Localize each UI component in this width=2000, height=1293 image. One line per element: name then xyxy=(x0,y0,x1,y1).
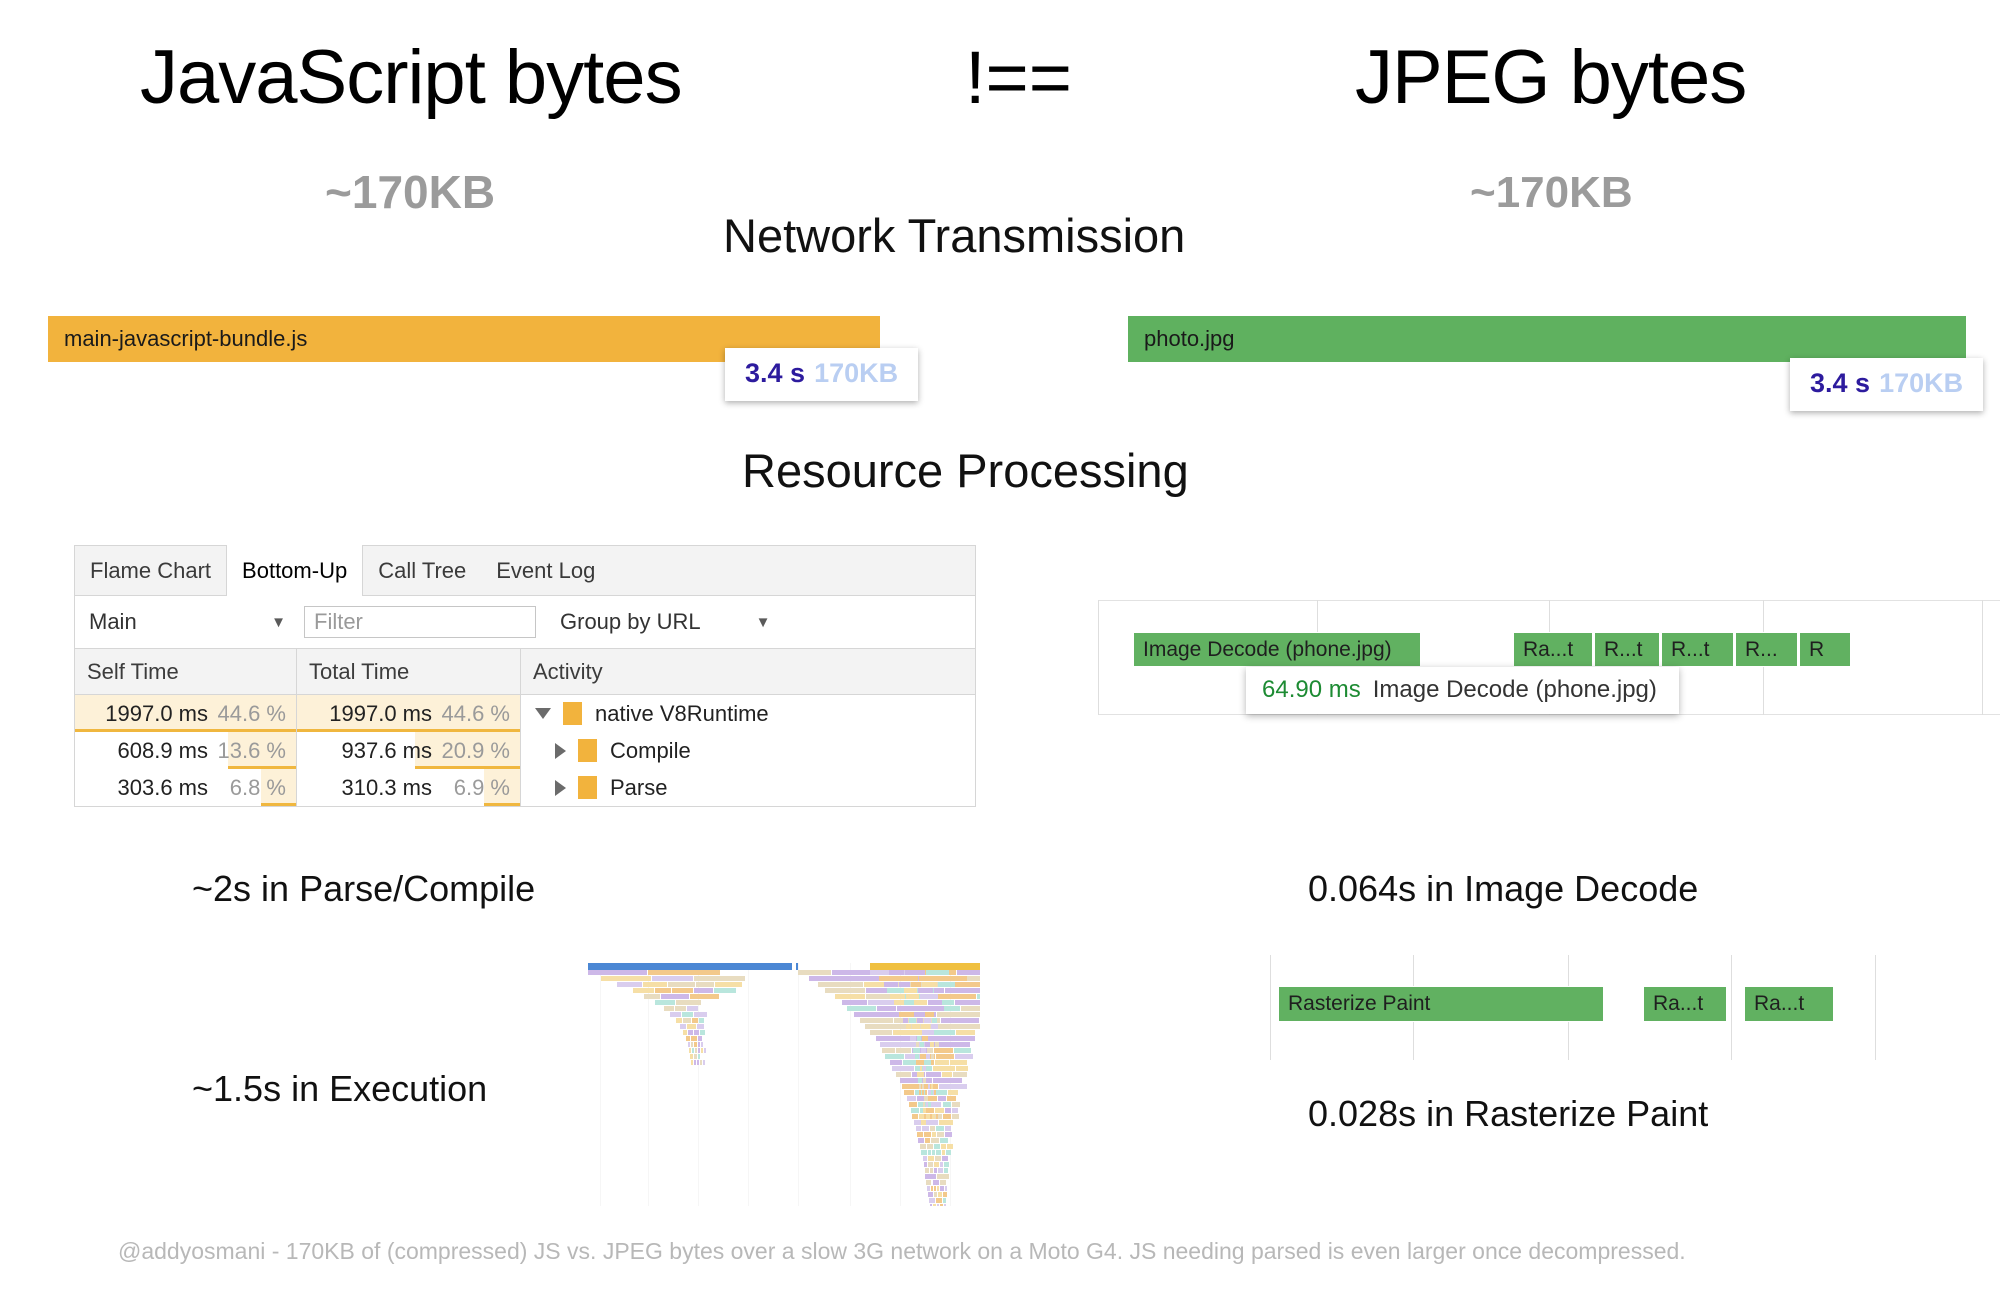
flame-chart-block xyxy=(937,1012,980,1017)
flame-chart-block xyxy=(956,1066,968,1071)
flame-chart-block xyxy=(936,1198,942,1203)
network-bar-jpeg: photo.jpg xyxy=(1128,316,1966,362)
devtools-tabstrip: Flame Chart Bottom-Up Call Tree Event Lo… xyxy=(75,546,975,596)
timeline-bar-rasterize-paint-main[interactable]: Rasterize Paint xyxy=(1278,986,1604,1022)
cell-activity: native V8Runtime xyxy=(521,695,975,732)
table-row[interactable]: 303.6 ms 6.8 % 310.3 ms 6.9 % Parse xyxy=(75,769,975,806)
flame-chart-block xyxy=(944,1204,946,1206)
flame-chart-block xyxy=(927,1078,929,1083)
chevron-down-icon: ▼ xyxy=(271,614,286,631)
flame-chart-block xyxy=(847,1006,876,1011)
flame-chart-block xyxy=(952,1114,959,1119)
flame-chart-block xyxy=(931,1138,939,1143)
flame-chart-block xyxy=(954,1048,971,1053)
footer-caption: @addyosmani - 170KB of (compressed) JS v… xyxy=(118,1238,1686,1265)
flame-chart-block xyxy=(909,1102,918,1107)
flame-chart-block xyxy=(916,1042,920,1047)
self-time-value: 608.9 ms xyxy=(118,738,209,764)
flame-chart-block xyxy=(664,1006,675,1011)
flame-chart-block xyxy=(926,1180,931,1185)
flame-chart-block xyxy=(700,1060,702,1065)
flame-chart-block xyxy=(931,1186,933,1191)
flame-chart-block xyxy=(935,1108,944,1113)
flame-chart-block xyxy=(937,1186,939,1191)
flame-chart-block xyxy=(697,1060,699,1065)
flame-chart-block xyxy=(648,970,720,975)
flame-chart-block xyxy=(912,1114,918,1119)
filter-placeholder: Filter xyxy=(314,609,363,635)
flame-chart-block xyxy=(923,1066,926,1071)
flame-chart-block xyxy=(936,1126,944,1131)
network-tooltip-jpeg-size: 170KB xyxy=(1879,368,1963,398)
flame-chart-block xyxy=(870,1030,892,1035)
timeline-bar-rasterize-paint-3[interactable]: Ra...t xyxy=(1744,986,1834,1022)
scope-select-main[interactable]: Main ▼ xyxy=(89,609,304,635)
flame-chart-block xyxy=(921,1048,926,1053)
flame-chart-block xyxy=(934,1186,936,1191)
flame-chart-block xyxy=(922,1036,928,1041)
flame-chart-block xyxy=(936,1054,954,1059)
tab-flame-chart[interactable]: Flame Chart xyxy=(75,546,226,595)
devtools-toolbar: Main ▼ Filter Group by URL ▼ xyxy=(75,596,975,649)
flame-chart-block xyxy=(940,1204,943,1206)
flame-chart-block xyxy=(961,1006,980,1011)
flame-chart-block xyxy=(697,1024,704,1029)
flame-chart-block xyxy=(952,1102,960,1107)
flame-chart-block xyxy=(904,1090,914,1095)
flame-chart-block xyxy=(947,1096,956,1101)
flame-chart-block xyxy=(692,1018,697,1023)
flame-chart-block xyxy=(944,1168,948,1173)
flame-chart-block xyxy=(943,1192,947,1197)
flame-chart-block xyxy=(916,1126,921,1131)
headline-not-equal-operator: !== xyxy=(965,28,1072,128)
flame-chart-block xyxy=(927,1096,937,1101)
flame-chart-block xyxy=(940,1138,948,1143)
flame-chart-block xyxy=(916,1060,923,1065)
flame-chart-block xyxy=(714,988,736,993)
flame-chart-block xyxy=(920,1054,925,1059)
flame-chart-block xyxy=(935,1060,948,1065)
flame-chart-block xyxy=(680,1024,687,1029)
flame-chart-block xyxy=(915,1054,920,1059)
flame-chart-block xyxy=(940,1186,943,1191)
flame-chart-block xyxy=(932,1132,937,1137)
flame-chart-block xyxy=(955,1054,974,1059)
network-tooltip-jpeg-time: 3.4 s xyxy=(1810,368,1870,398)
flame-chart-block xyxy=(676,1000,701,1005)
flame-chart-block xyxy=(915,1000,927,1005)
flame-chart-block xyxy=(934,1192,937,1197)
flame-chart-block xyxy=(933,1114,935,1119)
jpeg-size-label: ~170KB xyxy=(1470,168,1633,218)
flame-chart-block xyxy=(633,988,653,993)
flame-chart-block xyxy=(940,1180,945,1185)
table-header-row: Self Time Total Time Activity xyxy=(75,649,975,695)
flame-chart-block xyxy=(930,1042,934,1047)
cell-activity: Compile xyxy=(521,732,975,769)
flame-chart-block xyxy=(655,988,671,993)
flame-chart-block xyxy=(930,1102,941,1107)
annotation-parse-compile: ~2s in Parse/Compile xyxy=(192,868,535,910)
flame-chart-block xyxy=(703,1060,705,1065)
flame-chart-block xyxy=(943,1102,952,1107)
tooltip-activity-name: Image Decode (phone.jpg) xyxy=(1373,676,1657,703)
flame-chart-block xyxy=(694,1042,697,1047)
cell-total-time: 937.6 ms 20.9 % xyxy=(297,732,521,769)
annotation-image-decode: 0.064s in Image Decode xyxy=(1308,868,1698,910)
flame-chart-block xyxy=(798,970,831,975)
tooltip-duration: 64.90 ms xyxy=(1262,676,1361,703)
flame-chart-block xyxy=(644,994,660,999)
flame-chart-block xyxy=(957,970,980,975)
headline-row: JavaScript bytes !== JPEG bytes xyxy=(0,28,2000,138)
flame-chart-block xyxy=(668,982,695,987)
timeline-tooltip-image-decode: 64.90 msImage Decode (phone.jpg) xyxy=(1246,667,1679,714)
flame-chart-block xyxy=(882,1048,895,1053)
flame-chart-block xyxy=(655,1000,675,1005)
flame-chart-block xyxy=(927,1186,930,1191)
flame-chart-block xyxy=(694,1030,699,1035)
flame-chart-block xyxy=(698,1036,702,1041)
activity-color-swatch xyxy=(563,702,582,725)
flame-chart-block xyxy=(938,1168,943,1173)
flame-chart-block xyxy=(925,1042,929,1047)
flame-chart-block xyxy=(919,1084,921,1089)
flame-chart-block xyxy=(889,970,904,975)
flame-chart-block xyxy=(922,1084,924,1089)
flame-chart-block xyxy=(698,1048,700,1053)
flame-chart-block xyxy=(601,976,651,981)
flame-chart-block xyxy=(698,1054,700,1059)
flame-chart-block xyxy=(904,1000,914,1005)
timeline-bar-rasterize-2[interactable]: R...t xyxy=(1594,632,1660,667)
flame-chart-block xyxy=(691,1042,693,1047)
flame-chart-block xyxy=(617,982,643,987)
flame-chart-block xyxy=(928,1156,934,1161)
flame-chart-block xyxy=(689,1048,691,1053)
flame-chart-block xyxy=(920,1108,922,1113)
flame-chart-block xyxy=(696,982,714,987)
flame-chart-block xyxy=(906,994,920,999)
flame-chart-block xyxy=(928,1162,933,1167)
flame-chart-block xyxy=(940,1162,943,1167)
column-header-total-time[interactable]: Total Time xyxy=(297,649,521,694)
flame-chart-block xyxy=(691,1060,693,1065)
flame-chart-block xyxy=(694,988,713,993)
flame-chart-block xyxy=(682,1012,693,1017)
flame-chart-block xyxy=(832,970,874,975)
triangle-right-icon[interactable] xyxy=(555,743,566,759)
flame-chart-block xyxy=(931,1054,934,1059)
flame-chart-block xyxy=(934,1090,936,1095)
activity-label: native V8Runtime xyxy=(595,701,769,727)
flame-chart-block xyxy=(927,1048,933,1053)
flame-chart-block xyxy=(896,1072,911,1077)
flame-chart-block xyxy=(931,1024,938,1029)
flame-chart-block xyxy=(686,1036,690,1041)
flame-chart-block xyxy=(672,988,693,993)
timeline-bar-rasterize-5[interactable]: R xyxy=(1799,632,1851,667)
flame-chart-block xyxy=(937,1132,943,1137)
total-time-percent: 20.9 % xyxy=(432,738,514,764)
flame-chart-block xyxy=(935,1042,939,1047)
annotation-rasterize-paint: 0.028s in Rasterize Paint xyxy=(1308,1093,1708,1135)
flame-chart-block xyxy=(825,988,864,993)
js-size-label: ~170KB xyxy=(325,165,495,219)
activity-color-swatch xyxy=(578,776,597,799)
flame-chart-block xyxy=(692,1048,694,1053)
flame-chart-block xyxy=(912,1024,920,1029)
flame-chart-block xyxy=(934,1162,939,1167)
section-title-resource-processing: Resource Processing xyxy=(742,443,1189,498)
flame-chart-block xyxy=(930,1204,933,1206)
chevron-down-icon: ▼ xyxy=(756,614,771,631)
flame-chart-block xyxy=(929,1198,935,1203)
flame-chart-block xyxy=(946,1150,950,1155)
flame-chart-block xyxy=(933,1204,936,1206)
flame-chart-block xyxy=(704,1048,706,1053)
flame-chart-block xyxy=(944,1162,949,1167)
flame-chart-block xyxy=(894,1000,903,1005)
timeline-image-decode: Image Decode (phone.jpg) Ra...t R...t R.… xyxy=(1098,600,2000,715)
column-header-self-time[interactable]: Self Time xyxy=(75,649,297,694)
flame-chart-block xyxy=(928,1150,931,1155)
flame-chart-block xyxy=(925,1084,927,1089)
flame-chart-block xyxy=(688,1042,690,1047)
flame-chart-block xyxy=(941,1144,945,1149)
devtools-bottom-up-panel: Flame Chart Bottom-Up Call Tree Event Lo… xyxy=(74,545,976,807)
flame-chart-block xyxy=(924,1060,932,1065)
flame-chart-block xyxy=(923,1156,928,1161)
flame-chart-block xyxy=(690,994,718,999)
flame-chart-block xyxy=(953,1072,966,1077)
flame-chart-block xyxy=(652,976,693,981)
flame-chart-block xyxy=(884,982,898,987)
flame-chart-block xyxy=(945,988,980,993)
flame-chart-block xyxy=(890,1060,902,1065)
flame-chart-block xyxy=(934,1168,937,1173)
flame-chart-block xyxy=(937,1174,949,1179)
flame-chart-block xyxy=(910,1036,916,1041)
flame-chart-block xyxy=(683,1030,687,1035)
activity-color-swatch xyxy=(578,739,597,762)
flame-chart-block xyxy=(924,1018,931,1023)
flame-chart-block xyxy=(937,1204,939,1206)
flame-chart-block xyxy=(907,1096,916,1101)
flame-chart-block xyxy=(921,1120,926,1125)
flame-chart-block xyxy=(943,1114,950,1119)
flame-chart-block xyxy=(932,1018,938,1023)
flame-chart-block xyxy=(939,1120,953,1125)
flame-chart-block xyxy=(921,1114,923,1119)
section-title-network-transmission: Network Transmission xyxy=(723,208,1185,263)
flame-chart-block xyxy=(911,982,921,987)
flame-chart-block xyxy=(699,1018,704,1023)
flame-chart-block xyxy=(694,976,744,981)
self-time-value: 1997.0 ms xyxy=(105,701,208,727)
flame-chart-block xyxy=(715,982,742,987)
tab-call-tree[interactable]: Call Tree xyxy=(363,546,481,595)
flame-chart-block xyxy=(919,1090,921,1095)
flame-chart-block xyxy=(920,1144,927,1149)
timeline-bar-rasterize-paint-2[interactable]: Ra...t xyxy=(1643,986,1727,1022)
flame-chart-block xyxy=(694,1012,706,1017)
flame-chart-block xyxy=(842,1000,867,1005)
flame-chart-block xyxy=(920,1042,924,1047)
flame-chart-block xyxy=(945,1132,952,1137)
network-tooltip-javascript: 3.4 s170KB xyxy=(725,348,918,401)
flame-chart-block xyxy=(917,1018,922,1023)
flame-chart-block xyxy=(918,1078,922,1083)
flame-chart-block xyxy=(924,1096,928,1101)
flame-chart-block xyxy=(890,994,904,999)
flame-chart-block xyxy=(938,1192,942,1197)
total-time-percent: 6.9 % xyxy=(432,775,514,801)
flame-chart-block xyxy=(700,1030,705,1035)
flame-chart-block xyxy=(905,970,925,975)
timeline-bar-rasterize-3[interactable]: R...t xyxy=(1661,632,1734,667)
flame-chart-block xyxy=(835,994,865,999)
timeline-bar-rasterize-1[interactable]: Ra...t xyxy=(1513,632,1593,667)
flame-chart-block xyxy=(701,1042,703,1047)
flame-chart-block xyxy=(939,1084,966,1089)
flame-chart-block xyxy=(928,1000,943,1005)
flame-chart-block xyxy=(926,1102,928,1107)
flame-chart-thumbnail[interactable]: 1 xyxy=(588,963,980,1206)
flame-chart-block xyxy=(933,1078,963,1083)
timeline-bar-rasterize-4[interactable]: R... xyxy=(1735,632,1798,667)
scope-select-label: Main xyxy=(89,609,137,635)
flame-chart-block xyxy=(920,1066,922,1071)
flame-chart-block xyxy=(955,1000,980,1005)
flame-chart-block xyxy=(887,988,903,993)
flame-chart-block xyxy=(916,1066,919,1071)
flame-chart-block xyxy=(942,1156,948,1161)
flame-chart-block xyxy=(915,1012,924,1017)
flame-chart-block xyxy=(917,1036,921,1041)
filter-input[interactable]: Filter xyxy=(304,606,536,638)
flame-chart-block xyxy=(918,988,933,993)
total-time-percent: 44.6 % xyxy=(432,701,514,727)
flame-chart-block xyxy=(928,1084,930,1089)
flame-chart-block xyxy=(943,1198,946,1203)
tab-event-log[interactable]: Event Log xyxy=(481,546,610,595)
flame-chart-block xyxy=(917,1132,922,1137)
flame-chart-block xyxy=(926,1108,934,1113)
flame-chart-block xyxy=(927,1114,929,1119)
headline-javascript-bytes: JavaScript bytes xyxy=(140,28,682,128)
flame-chart-block xyxy=(936,1114,938,1119)
flame-chart-block xyxy=(947,1144,954,1149)
flame-chart-block xyxy=(675,1006,686,1011)
self-time-value: 303.6 ms xyxy=(118,775,209,801)
flame-chart-block xyxy=(909,1018,916,1023)
flame-chart-block xyxy=(818,982,864,987)
flame-chart-block xyxy=(921,1024,930,1029)
flame-chart-block xyxy=(899,1012,914,1017)
timeline-rasterize-paint: Rasterize Paint Ra...t Ra...t xyxy=(1258,955,2000,1060)
flame-chart-block xyxy=(922,982,938,987)
timeline-bar-image-decode[interactable]: Image Decode (phone.jpg) xyxy=(1133,632,1421,667)
flame-chart-block xyxy=(920,1096,923,1101)
flame-chart-block xyxy=(643,982,666,987)
flame-chart-block xyxy=(950,1060,968,1065)
flame-chart-block xyxy=(690,1054,693,1059)
flame-chart-block xyxy=(924,1132,931,1137)
flame-chart-block xyxy=(588,970,647,975)
network-tooltip-jpeg: 3.4 s170KB xyxy=(1790,358,1983,411)
flame-chart-block xyxy=(945,1108,951,1113)
flame-chart-block xyxy=(922,1090,924,1095)
tab-bottom-up[interactable]: Bottom-Up xyxy=(226,545,363,596)
table-row[interactable]: 1997.0 ms 44.6 % 1997.0 ms 44.6 % native… xyxy=(75,695,975,732)
flame-chart-block xyxy=(892,1066,914,1071)
column-header-activity[interactable]: Activity xyxy=(521,649,975,694)
self-time-percent: 13.6 % xyxy=(208,738,290,764)
flame-chart-block xyxy=(921,1150,926,1155)
flame-chart-block xyxy=(926,1054,930,1059)
cell-total-time: 310.3 ms 6.9 % xyxy=(297,769,521,806)
flame-chart-block xyxy=(929,1102,931,1107)
flame-chart-block xyxy=(941,1018,979,1023)
flame-chart-block xyxy=(924,1114,926,1119)
flame-chart-block xyxy=(701,1048,703,1053)
network-tooltip-js-time: 3.4 s xyxy=(745,358,805,388)
cell-activity: Parse xyxy=(521,769,975,806)
triangle-right-icon[interactable] xyxy=(555,780,566,796)
triangle-down-icon[interactable] xyxy=(535,708,551,719)
cell-self-time: 608.9 ms 13.6 % xyxy=(75,732,297,769)
flame-chart-block xyxy=(930,1168,933,1173)
flame-chart-block xyxy=(670,1012,680,1017)
flame-chart-block xyxy=(919,976,967,981)
flame-chart-block xyxy=(926,1072,940,1077)
flame-chart-block xyxy=(927,1144,933,1149)
flame-chart-block xyxy=(945,1186,947,1191)
flame-chart-block xyxy=(925,1138,930,1143)
flame-chart-block xyxy=(661,994,689,999)
flame-chart-block xyxy=(899,982,910,987)
activity-label: Parse xyxy=(610,775,667,801)
activity-label: Compile xyxy=(610,738,691,764)
group-by-select[interactable]: Group by URL ▼ xyxy=(560,609,770,635)
flame-chart-block xyxy=(938,994,976,999)
network-bar-jpeg-filename: photo.jpg xyxy=(1144,326,1235,352)
flame-chart-block xyxy=(691,1036,697,1041)
annotation-execution: ~1.5s in Execution xyxy=(192,1068,487,1110)
flame-chart-block xyxy=(922,1030,935,1035)
table-row[interactable]: 608.9 ms 13.6 % 937.6 ms 20.9 % Compile xyxy=(75,732,975,769)
flame-chart-block xyxy=(931,1090,933,1095)
flame-chart-block xyxy=(683,1018,692,1023)
flame-chart-block xyxy=(931,1084,933,1089)
flame-chart-block xyxy=(934,988,945,993)
flame-chart-block xyxy=(942,1150,945,1155)
flame-chart-block xyxy=(936,1090,947,1095)
flame-chart-block xyxy=(925,1090,927,1095)
flame-chart-block xyxy=(925,1012,934,1017)
flame-chart-block xyxy=(897,1006,944,1011)
total-time-value: 937.6 ms xyxy=(342,738,433,764)
flame-chart-block xyxy=(942,1072,953,1077)
cell-self-time: 303.6 ms 6.8 % xyxy=(75,769,297,806)
flame-chart-block xyxy=(920,1102,922,1107)
flame-chart-block xyxy=(896,1048,911,1053)
flame-chart-block xyxy=(870,970,888,975)
flame-chart-block xyxy=(929,1036,933,1041)
total-time-value: 1997.0 ms xyxy=(329,701,432,727)
